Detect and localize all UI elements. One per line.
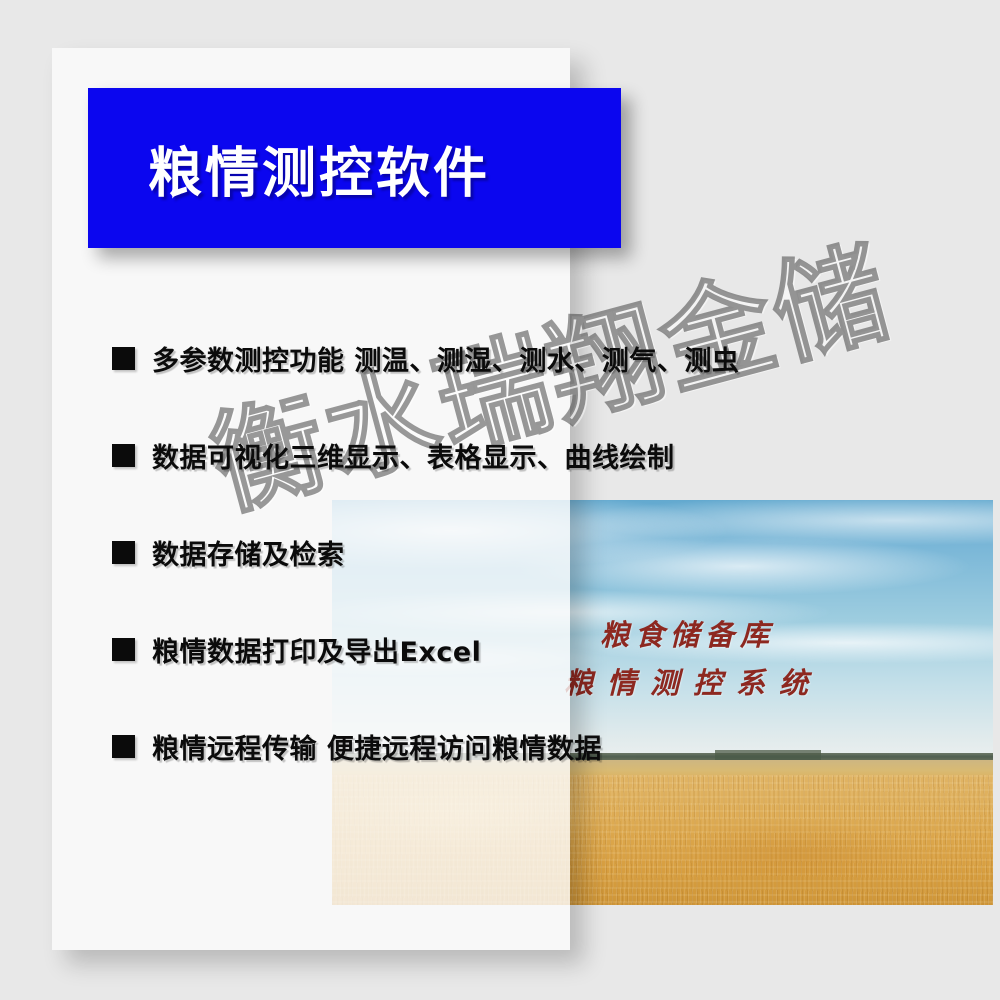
list-item: 数据存储及检索 xyxy=(112,504,872,601)
black-square-bullet-icon xyxy=(112,541,135,564)
list-item-label: 数据存储及检索 xyxy=(152,533,345,572)
list-item-label: 粮情数据打印及导出Excel xyxy=(152,630,481,669)
black-square-bullet-icon xyxy=(112,638,135,661)
list-item-label: 数据可视化三维显示、表格显示、曲线绘制 xyxy=(152,436,675,475)
list-item: 多参数测控功能 测温、测湿、测水、测气、测虫 xyxy=(112,310,872,407)
black-square-bullet-icon xyxy=(112,347,135,370)
black-square-bullet-icon xyxy=(112,444,135,467)
list-item-label: 多参数测控功能 测温、测湿、测水、测气、测虫 xyxy=(152,339,739,378)
title-banner: 粮情测控软件 xyxy=(88,88,621,248)
page-title: 粮情测控软件 xyxy=(148,129,490,208)
list-item-label: 粮情远程传输 便捷远程访问粮情数据 xyxy=(152,727,602,766)
list-item: 数据可视化三维显示、表格显示、曲线绘制 xyxy=(112,407,872,504)
black-square-bullet-icon xyxy=(112,735,135,758)
list-item: 粮情远程传输 便捷远程访问粮情数据 xyxy=(112,698,872,795)
list-item: 粮情数据打印及导出Excel xyxy=(112,601,872,698)
feature-list: 多参数测控功能 测温、测湿、测水、测气、测虫 数据可视化三维显示、表格显示、曲线… xyxy=(112,310,872,795)
poster-stage: 粮食储备库 粮情测控系统 衡水瑞翔金储 粮情测控软件 多参数测控功能 测温、测湿… xyxy=(0,0,1000,1000)
